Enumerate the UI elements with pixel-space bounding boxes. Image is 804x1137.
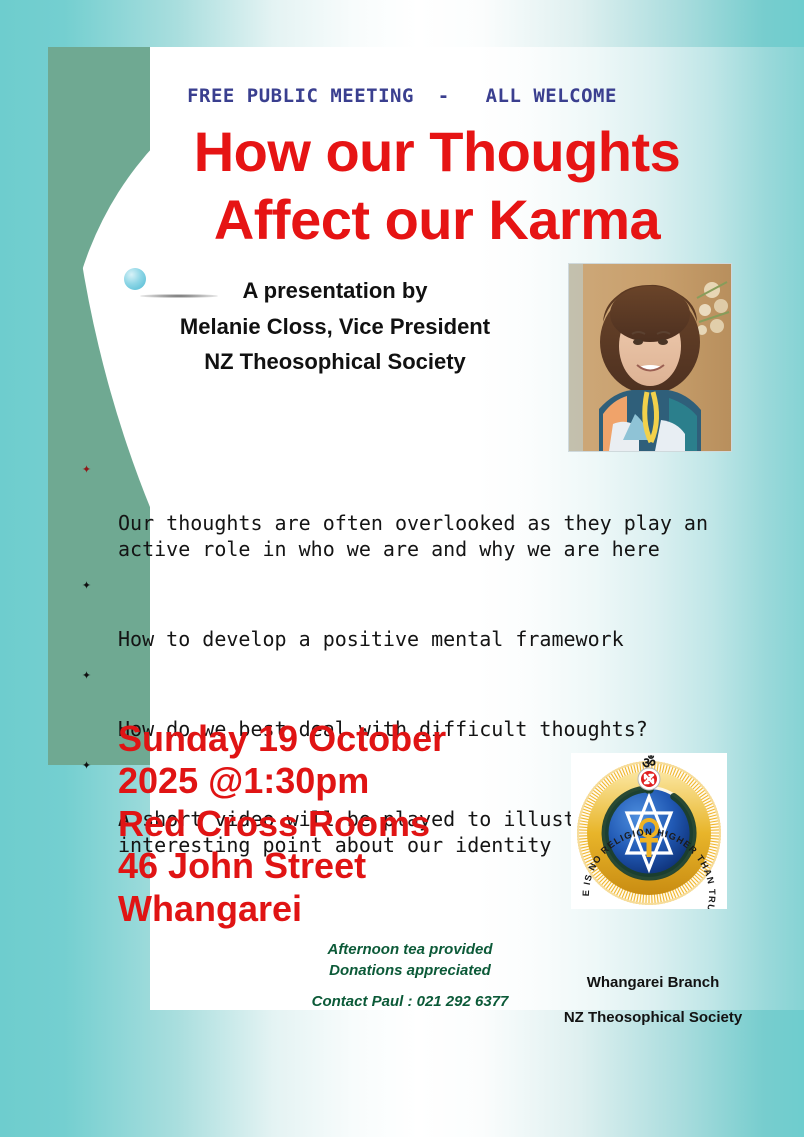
kicker-banner: FREE PUBLIC MEETING - ALL WELCOME [0, 85, 804, 107]
list-item: ✦ How to develop a positive mental frame… [78, 574, 778, 652]
title-line-2: Affect our Karma [110, 186, 764, 254]
diamond-bullet-icon: ✦ [82, 755, 91, 775]
list-item-text: How to develop a positive mental framewo… [118, 627, 624, 651]
event-details: Sunday 19 October 2025 @1:30pm Red Cross… [118, 718, 446, 930]
diamond-bullet-icon: ✦ [82, 575, 91, 595]
diamond-bullet-icon: ✦ [82, 459, 91, 479]
diamond-bullet-icon: ✦ [82, 665, 91, 685]
branch-footer: Whangarei Branch NZ Theosophical Society [528, 966, 778, 1035]
refreshments-note: Afternoon tea provided Donations appreci… [250, 940, 570, 981]
presenter-name: Melanie Closs, Vice President [140, 309, 530, 345]
poster-canvas: FREE PUBLIC MEETING - ALL WELCOME How ou… [0, 0, 804, 1137]
list-item: ✦ Our thoughts are often overlooked as t… [78, 458, 778, 562]
om-symbol-icon: ॐ [642, 754, 656, 772]
list-item-text: Our thoughts are often overlooked as the… [118, 511, 708, 561]
contact-note: Contact Paul : 021 292 6377 [250, 993, 570, 1010]
presenter-org: NZ Theosophical Society [140, 344, 530, 380]
title-line-1: How our Thoughts [110, 118, 764, 186]
presenter-intro: A presentation by [140, 273, 530, 309]
theosophical-society-seal-icon: ॐ THERE IS NO RELIGION HIGHER THAN TRUTH [571, 753, 727, 909]
presenter-block: A presentation by Melanie Closs, Vice Pr… [140, 273, 530, 380]
page-title: How our Thoughts Affect our Karma [110, 118, 764, 255]
presenter-photo [568, 263, 732, 452]
